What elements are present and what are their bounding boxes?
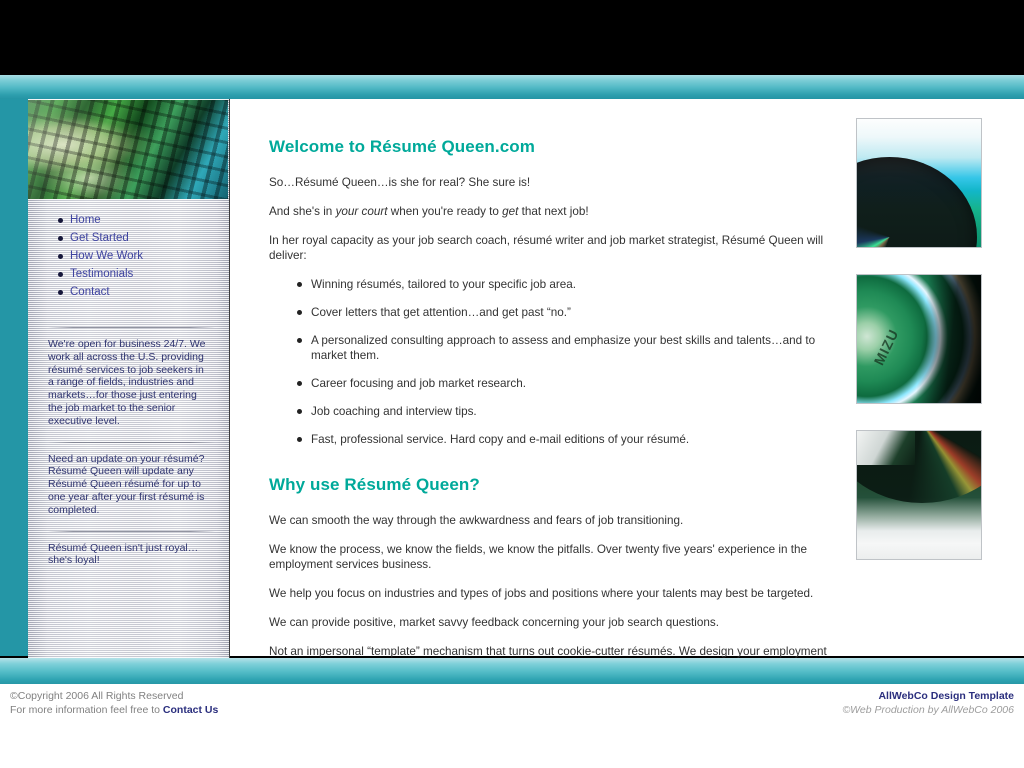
bottom-teal-bar — [0, 658, 1024, 684]
list-item: Winning résumés, tailored to your specif… — [297, 277, 834, 292]
cd-dark-disc-thumbnail — [856, 430, 982, 560]
list-item: Career focusing and job market research. — [297, 376, 834, 391]
page-root: Home Get Started How We Work Testimonial… — [0, 0, 1024, 768]
intro-p2-mid: when you're ready to — [388, 205, 503, 218]
sidebar-item-how-we-work[interactable]: How We Work — [28, 248, 229, 265]
sidebar-divider-3 — [48, 531, 215, 532]
list-item: Fast, professional service. Hard copy an… — [297, 432, 834, 447]
footer-credit-title: AllWebCo Design Template — [842, 689, 1014, 703]
sidebar-link-how-we-work[interactable]: How We Work — [70, 250, 143, 262]
sidebar-link-get-started[interactable]: Get Started — [70, 232, 129, 244]
intro-p2-em2: get — [502, 205, 518, 218]
sidebar-nav: Home Get Started How We Work Testimonial… — [28, 199, 229, 301]
footer-right-block: AllWebCo Design Template ©Web Production… — [842, 689, 1014, 717]
sidebar-divider-2 — [48, 442, 215, 443]
sidebar-item-testimonials[interactable]: Testimonials — [28, 266, 229, 283]
sidebar-item-contact[interactable]: Contact — [28, 284, 229, 301]
footer-copyright: ©Copyright 2006 All Rights Reserved — [10, 689, 218, 703]
footer-left-block: ©Copyright 2006 All Rights Reserved For … — [10, 689, 218, 717]
sidebar-item-home[interactable]: Home — [28, 212, 229, 229]
footer-contact-line: For more information feel free to Contac… — [10, 703, 218, 717]
intro-p2-pre: And she's in — [269, 205, 336, 218]
top-teal-bar — [0, 75, 1024, 99]
cd-gradient-thumbnail — [856, 118, 982, 248]
why-paragraph-3: We help you focus on industries and type… — [269, 586, 834, 601]
sidebar-divider-1 — [48, 327, 215, 328]
keyboard-highlight-overlay — [28, 100, 228, 199]
list-item: Cover letters that get attention…and get… — [297, 305, 834, 320]
sidebar-blurb-2: Need an update on your résumé? Résumé Qu… — [48, 453, 207, 517]
sidebar-banner-image — [28, 100, 228, 199]
page-title: Welcome to Résumé Queen.com — [269, 137, 834, 157]
top-black-band — [0, 0, 1024, 75]
intro-p2-em1: your court — [336, 205, 388, 218]
intro-paragraph-1: So…Résumé Queen…is she for real? She sur… — [269, 175, 834, 190]
list-item: A personalized consulting approach to as… — [297, 333, 834, 363]
sidebar-blurb-3-text: Résumé Queen isn't just royal… she's loy… — [48, 542, 207, 568]
intro-paragraph-3: In her royal capacity as your job search… — [269, 233, 834, 263]
intro-paragraph-2: And she's in your court when you're read… — [269, 204, 834, 219]
sidebar-link-home[interactable]: Home — [70, 214, 101, 226]
main-content: Welcome to Résumé Queen.com So…Résumé Qu… — [269, 137, 834, 688]
sidebar-blurb-2-text: Need an update on your résumé? Résumé Qu… — [48, 453, 207, 517]
footer: ©Copyright 2006 All Rights Reserved For … — [0, 684, 1024, 768]
contact-us-link[interactable]: Contact Us — [163, 704, 218, 716]
intro-p2-post: that next job! — [518, 205, 588, 218]
sidebar-blurb-1-text: We're open for business 24/7. We work al… — [48, 338, 207, 428]
sidebar: Home Get Started How We Work Testimonial… — [28, 99, 230, 661]
right-image-column: MIZU — [856, 118, 982, 586]
footer-contact-pre: For more information feel free to — [10, 704, 163, 716]
sidebar-link-testimonials[interactable]: Testimonials — [70, 268, 133, 280]
sidebar-item-get-started[interactable]: Get Started — [28, 230, 229, 247]
why-paragraph-4: We can provide positive, market savvy fe… — [269, 615, 834, 630]
why-paragraph-1: We can smooth the way through the awkwar… — [269, 513, 834, 528]
list-item: Job coaching and interview tips. — [297, 404, 834, 419]
sidebar-blurb-1: We're open for business 24/7. We work al… — [48, 338, 207, 428]
sidebar-blurb-3: Résumé Queen isn't just royal… she's loy… — [48, 542, 207, 568]
sidebar-link-contact[interactable]: Contact — [70, 286, 110, 298]
cd-green-disc-thumbnail: MIZU — [856, 274, 982, 404]
why-paragraph-2: We know the process, we know the fields,… — [269, 542, 834, 572]
section-title-why-use: Why use Résumé Queen? — [269, 475, 834, 495]
disc-label-text: MIZU — [871, 326, 902, 367]
footer-credit-sub: ©Web Production by AllWebCo 2006 — [842, 703, 1014, 717]
features-list: Winning résumés, tailored to your specif… — [269, 277, 834, 447]
left-teal-strip — [0, 99, 28, 656]
